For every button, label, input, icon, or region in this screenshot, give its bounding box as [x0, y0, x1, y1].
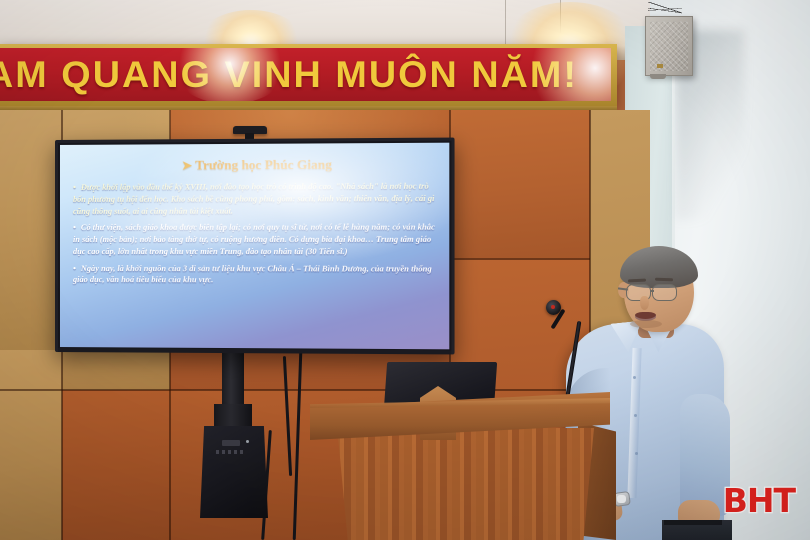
wall-speaker: [645, 16, 693, 76]
wall-panel: [450, 110, 590, 258]
shirt-button: [633, 376, 636, 379]
bullet-icon: •: [73, 264, 76, 273]
panel-seam: [0, 389, 590, 391]
glasses-bridge: [650, 290, 654, 292]
wristwatch-face: [617, 495, 626, 503]
shirt-button: [635, 452, 638, 455]
speaker-logo: [657, 64, 663, 68]
slide-paragraph-text: Ngày nay, là khởi nguồn của 3 di sản tư …: [73, 264, 432, 285]
speaker-grille-icon: [650, 21, 688, 71]
glasses-lens: [652, 284, 677, 301]
ceiling-seam: [560, 0, 561, 42]
bht-watermark: BHT: [723, 481, 795, 520]
wall-panel: [0, 110, 62, 350]
bullet-arrow-icon: ➤: [182, 158, 192, 172]
amplifier-controls[interactable]: [216, 450, 246, 454]
microphone-indicator-icon: [551, 305, 555, 309]
bullet-icon: •: [73, 183, 76, 192]
wall-mounted-television: ➤ Trường học Phúc Giang •Được khởi lập v…: [55, 138, 455, 355]
bullet-icon: •: [73, 223, 76, 232]
wall-banner: AM QUANG VINH MUÔN NĂM!: [0, 44, 617, 106]
tv-screen: ➤ Trường học Phúc Giang •Được khởi lập v…: [60, 143, 449, 350]
wall-panel: [62, 390, 170, 540]
speaker-bracket: [650, 74, 666, 79]
slide-title: ➤ Trường học Phúc Giang: [81, 156, 436, 174]
amplifier-indicator-icon: [246, 440, 249, 443]
slide-paragraph-text: Có thư viện, sách giáo khoa được biên tậ…: [73, 223, 435, 256]
presentation-slide: ➤ Trường học Phúc Giang •Được khởi lập v…: [60, 143, 449, 350]
eyebrow: [655, 278, 673, 282]
slide-title-text: Trường học Phúc Giang: [195, 157, 332, 173]
chin-shadow: [630, 320, 662, 328]
banner-face: AM QUANG VINH MUÔN NĂM!: [0, 48, 611, 101]
slide-paragraph: •Ngày nay, là khởi nguồn của 3 di sản tư…: [73, 263, 436, 287]
slide-paragraph: •Có thư viện, sách giáo khoa được biên t…: [73, 222, 436, 258]
slide-paragraph-text: Được khởi lập vào đầu thế kỷ XVIII, nơi …: [73, 182, 435, 216]
amplifier-display: [222, 440, 240, 446]
banner-text: AM QUANG VINH MUÔN NĂM!: [0, 54, 578, 96]
photo-scene: AM QUANG VINH MUÔN NĂM!: [0, 0, 810, 540]
podium-front-panel: [332, 428, 594, 540]
belt: [664, 520, 722, 525]
nose: [640, 296, 649, 310]
slide-paragraph: •Được khởi lập vào đầu thế kỷ XVIII, nơi…: [73, 181, 436, 218]
wall-panel: [0, 350, 62, 540]
shirt-button: [634, 414, 637, 417]
podium: [310, 392, 610, 540]
